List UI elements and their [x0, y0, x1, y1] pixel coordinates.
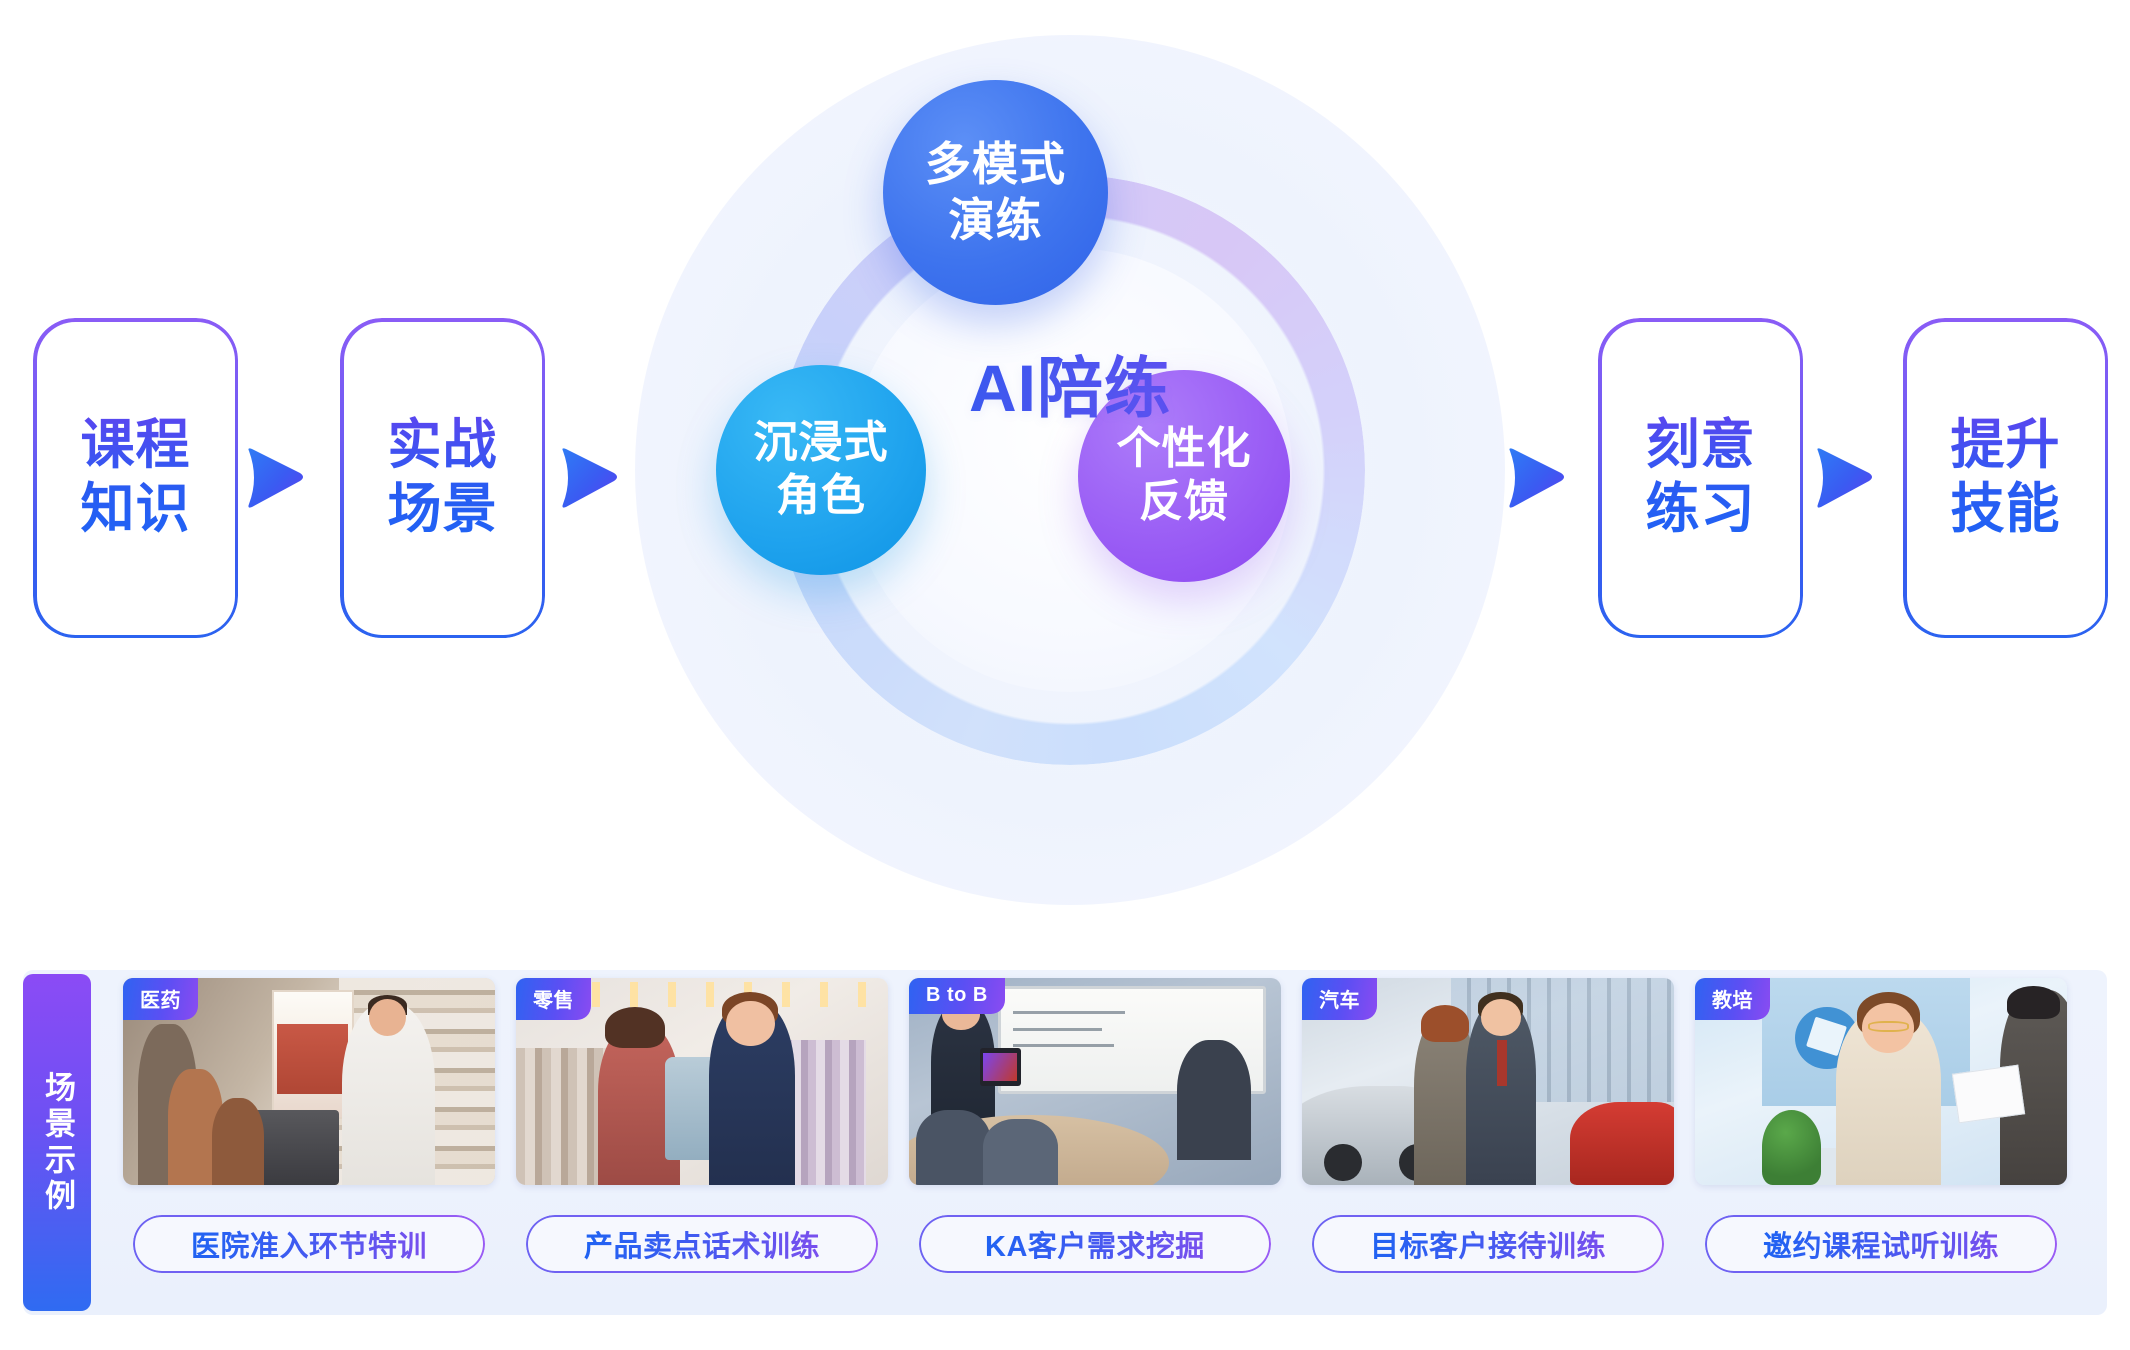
- stage-label: 课程 知识: [81, 414, 191, 541]
- stage-box-practical-scenario[interactable]: 实战 场景: [340, 318, 545, 638]
- scenario-sidebar-label: 场景示例: [35, 1071, 79, 1215]
- node-label: 多模式 演练: [925, 137, 1066, 247]
- scenario-badge: B to B: [909, 978, 1005, 1014]
- scenario-title: 目标客户接待训练: [1370, 1223, 1606, 1265]
- play-arrow-icon: [1812, 443, 1876, 513]
- play-arrow-icon: [557, 443, 621, 513]
- scenario-examples-panel: 场景示例 医药 医院准入环节特训: [23, 970, 2107, 1315]
- scenario-title-pill[interactable]: KA客户需求挖掘: [919, 1215, 1271, 1273]
- scenario-card[interactable]: 零售 产品卖点话术训练: [516, 978, 888, 1315]
- scenario-badge: 医药: [123, 978, 198, 1020]
- scenario-title-pill[interactable]: 目标客户接待训练: [1312, 1215, 1664, 1273]
- scenario-card[interactable]: 教培 邀约课程试听训练: [1695, 978, 2067, 1315]
- scenario-thumbnail: 零售: [516, 978, 888, 1185]
- process-flow-row: 课程 知识 实战 场景 多模式 演练 沉浸式 角色 个性化 反馈 AI陪练: [0, 0, 2130, 930]
- scenario-title-pill[interactable]: 产品卖点话术训练: [526, 1215, 878, 1273]
- scenario-thumbnail: 汽车: [1302, 978, 1674, 1185]
- scenario-sidebar: 场景示例: [23, 974, 91, 1311]
- diagram-center-title: AI陪练: [635, 335, 1505, 431]
- scenario-card[interactable]: 医药 医院准入环节特训: [123, 978, 495, 1315]
- node-label: 沉浸式 角色: [754, 417, 889, 523]
- scenario-title: KA客户需求挖掘: [985, 1223, 1205, 1265]
- stage-label: 刻意 练习: [1646, 414, 1756, 541]
- scenario-thumbnail: B to B: [909, 978, 1281, 1185]
- scenario-title: 邀约课程试听训练: [1763, 1223, 1999, 1265]
- scenario-thumbnail: 医药: [123, 978, 495, 1185]
- stage-label: 提升 技能: [1951, 414, 2061, 541]
- scenario-title-pill[interactable]: 邀约课程试听训练: [1705, 1215, 2057, 1273]
- node-label: 个性化 反馈: [1117, 423, 1252, 529]
- stage-label: 实战 场景: [388, 414, 498, 541]
- scenario-card[interactable]: B to B KA客户需求挖掘: [909, 978, 1281, 1315]
- play-arrow-icon: [243, 443, 307, 513]
- scenario-thumbnail: 教培: [1695, 978, 2067, 1185]
- scenario-card-list: 医药 医院准入环节特训 零售: [123, 970, 2107, 1315]
- scenario-card[interactable]: 汽车 目标客户接待训练: [1302, 978, 1674, 1315]
- scenario-badge: 汽车: [1302, 978, 1377, 1020]
- stage-box-skill-improvement[interactable]: 提升 技能: [1903, 318, 2108, 638]
- play-arrow-icon: [1504, 443, 1568, 513]
- ai-training-circle-diagram: 多模式 演练 沉浸式 角色 个性化 反馈 AI陪练: [635, 35, 1505, 905]
- stage-box-course-knowledge[interactable]: 课程 知识: [33, 318, 238, 638]
- scenario-title-pill[interactable]: 医院准入环节特训: [133, 1215, 485, 1273]
- node-multimodal[interactable]: 多模式 演练: [883, 80, 1108, 305]
- scenario-badge: 教培: [1695, 978, 1770, 1020]
- scenario-title: 产品卖点话术训练: [584, 1223, 820, 1265]
- stage-box-deliberate-practice[interactable]: 刻意 练习: [1598, 318, 1803, 638]
- scenario-title: 医院准入环节特训: [191, 1223, 427, 1265]
- scenario-badge: 零售: [516, 978, 591, 1020]
